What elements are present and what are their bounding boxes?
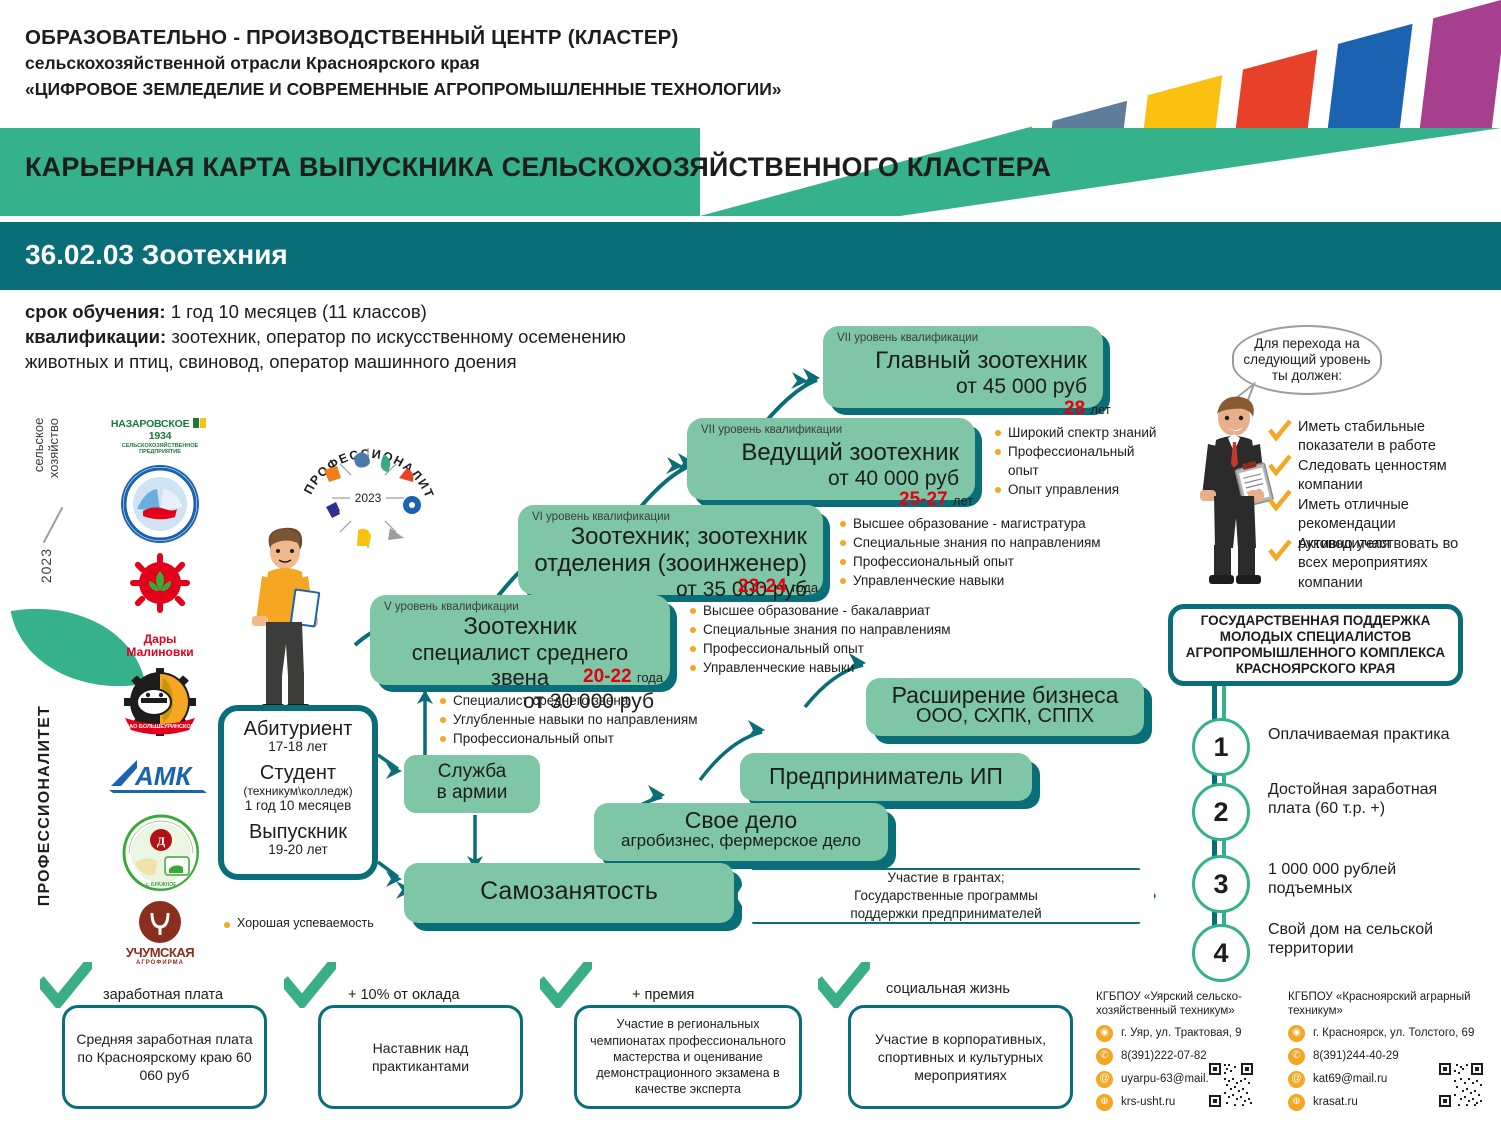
req-item: Высшее образование - бакалавриат (690, 601, 960, 620)
logo-uchumskaya-sub: АГРОФИРМА (105, 960, 215, 966)
svg-text:ПРОФЕССИОНАЛИТЕТ: ПРОФЕССИОНАЛИТЕТ (288, 402, 437, 501)
globe-icon: ⊕ (1288, 1094, 1305, 1111)
logo-solgonskoe-art (123, 467, 197, 541)
req-item: Хорошая успеваемость (224, 915, 424, 933)
req-item: Профессиональный опыт (840, 552, 1110, 571)
career-age-srednego: 20-22 года (583, 666, 663, 688)
logo-bolsheurinskoe: ЗАО БОЛЬШЕУРИНСКОЕ (105, 668, 215, 746)
gos-number-1: 1 (1192, 718, 1250, 776)
career-level-glavny: VII уровень квалификации (837, 332, 978, 344)
partner-logos: НАЗАРОВСКОЕ 1934 СЕЛЬСКОХОЗЯЙСТВЕННОЕ ПР… (100, 418, 220, 976)
career-reqs-vedushy: Высшее образование - магистратура Специа… (840, 514, 1110, 591)
contact-site-2: krasat.ru (1313, 1095, 1358, 1109)
logo-amk: АМК (105, 756, 215, 799)
bottom-label-1: заработная плата (103, 987, 223, 1003)
contact-site-1: krs-usht.ru (1121, 1095, 1175, 1109)
army-service-box[interactable]: Служба в армии (404, 755, 540, 813)
check-icon (1268, 490, 1292, 512)
location-pin-icon: ◉ (1288, 1025, 1305, 1042)
applicant-note: Хорошая успеваемость (224, 915, 424, 933)
check-icon (1268, 540, 1292, 562)
gos-number-3: 3 (1192, 855, 1250, 913)
career-age-vedushy: 25-27 лет (899, 489, 973, 511)
phone-icon: ✆ (1096, 1048, 1113, 1065)
logo-dary-title: Дары (105, 633, 215, 646)
check-icon (540, 962, 592, 1008)
term-label: срок обучения: (25, 301, 166, 322)
header-line-2: сельскохозяйственной отрасли Красноярско… (25, 53, 782, 74)
bottom-label-2: + 10% от оклада (348, 987, 460, 1003)
applicant-sub-2: (техникум\колледж) (224, 784, 372, 798)
career-title-vedushy: Ведущий зоотехник (687, 440, 975, 467)
gos-text-4: Свой дом на сельской территории (1268, 920, 1463, 958)
logo-dymov-art: Д с. БРАЖНОЕ (121, 813, 199, 891)
req-item: Профессиональный опыт (690, 639, 960, 658)
career-reqs-srednego: Специалист среднего звена Углубленные на… (440, 691, 710, 748)
globe-icon: ⊕ (1096, 1094, 1113, 1111)
applicant-stage-3: Выпускник (224, 822, 372, 842)
logo-dary-title2: Малиновки (105, 646, 215, 659)
bottom-card-3[interactable]: Участие в региональных чемпионатах профе… (574, 1005, 802, 1109)
contact-phone-1: 8(391)222-07-82 (1121, 1049, 1207, 1063)
applicant-stage-2: Студент (224, 763, 372, 783)
professionalitet-year: 2023 (355, 491, 382, 505)
email-icon: @ (1096, 1071, 1113, 1088)
rail-year: 2023 (38, 548, 54, 583)
business-title-entrepreneur: Предприниматель ИП (740, 753, 1032, 790)
applicant-age-3: 19-20 лет (224, 842, 372, 857)
bottom-label-4: социальная жизнь (886, 981, 1010, 997)
career-salary-glavny: от 45 000 руб (823, 375, 1103, 399)
business-box-expansion[interactable]: Расширение бизнеса ООО, СХПК, СППХ (866, 678, 1144, 736)
bottom-card-1[interactable]: Средняя заработная плата по Красноярском… (62, 1005, 267, 1109)
check-icon (1268, 455, 1292, 477)
bottom-card-2[interactable]: Наставник над практикантами (318, 1005, 523, 1109)
req-item: Профессиональный опыт (440, 729, 710, 748)
career-box-vedushy[interactable]: VII уровень квалификации Ведущий зоотехн… (687, 418, 975, 500)
qr-code-1 (1208, 1062, 1254, 1108)
rail-divider (43, 507, 64, 543)
business-sub-own: агробизнес, фермерское дело (594, 831, 888, 851)
career-level-srednego: V уровень квалификации (384, 601, 519, 613)
logo-nazarovskoe: НАЗАРОВСКОЕ 1934 СЕЛЬСКОХОЗЯЙСТВЕННОЕ ПР… (105, 418, 215, 455)
career-salary-vedushy: от 40 000 руб (687, 467, 975, 491)
req-item: Углубленные навыки по направлениям (440, 710, 710, 729)
logo-uchumskaya: УЧУМСКАЯ АГРОФИРМА (105, 901, 215, 966)
rail-professionalitet-label: ПРОФЕССИОНАЛИТЕТ (36, 705, 54, 906)
specialty-title: 36.02.03 Зоотехния (25, 239, 288, 271)
svg-text:АМК: АМК (134, 761, 193, 791)
logo-nazarovskoe-title: НАЗАРОВСКОЕ (111, 418, 190, 430)
req-item: Управленческие навыки (840, 571, 1110, 590)
gos-text-1: Оплачиваемая практика (1268, 725, 1463, 744)
promotion-requirement-1: Иметь стабильные показатели в работе (1298, 418, 1478, 457)
logo-bolsheurinskoe-label: ЗАО БОЛЬШЕУРИНСКОЕ (126, 724, 195, 730)
phone-icon: ✆ (1288, 1048, 1305, 1065)
logo-uchumskaya-title: УЧУМСКАЯ (126, 945, 194, 960)
logo-nazarovskoe-year: 1934 (149, 430, 172, 442)
header-line-3: «ЦИФРОВОЕ ЗЕМЛЕДЕЛИЕ И СОВРЕМЕННЫЕ АГРОП… (25, 79, 782, 100)
contact-address-row-1: ◉ г. Уяр, ул. Трактовая, 9 (1096, 1025, 1276, 1042)
career-reqs-otdeleniya: Высшее образование - бакалавриат Специал… (690, 601, 960, 678)
logo-nazarovskoe-sub: СЕЛЬСКОХОЗЯЙСТВЕННОЕ ПРЕДПРИЯТИЕ (105, 443, 215, 455)
logo-dymov: Д с. БРАЖНОЕ (105, 813, 215, 891)
business-box-selfemployed[interactable]: Самозанятость (404, 863, 734, 923)
req-item: Широкий спектр знаний (995, 423, 1175, 442)
check-icon (40, 962, 92, 1008)
req-item: Специальные знания по направлениям (840, 533, 1110, 552)
career-age-glavny: 28 лет (1064, 398, 1111, 420)
promotion-requirement-4: Активно участвовать во всех мероприятиях… (1298, 535, 1478, 593)
contact-address-row-2: ◉ г. Красноярск, ул. Толстого, 69 (1288, 1025, 1483, 1042)
email-icon: @ (1288, 1071, 1305, 1088)
check-icon (818, 962, 870, 1008)
logo-solgonskoe (105, 465, 215, 543)
contact-address-2: г. Красноярск, ул. Толстого, 69 (1313, 1026, 1474, 1040)
business-box-entrepreneur[interactable]: Предприниматель ИП (740, 753, 1032, 801)
bottom-card-4[interactable]: Участие в корпоративных, спортивных и ку… (848, 1005, 1073, 1109)
qr-code-2 (1438, 1062, 1484, 1108)
svg-text:с. БРАЖНОЕ: с. БРАЖНОЕ (145, 882, 177, 888)
gos-text-3: 1 000 000 рублей подъемных (1268, 860, 1463, 898)
grants-hexbox[interactable]: Участие в грантах; Государственные прогр… (736, 868, 1156, 924)
term-value: 1 год 10 месяцев (11 классов) (166, 301, 427, 322)
career-level-otdeleniya: VI уровень квалификации (532, 511, 670, 523)
logo-uchumskaya-art (139, 901, 181, 943)
applicant-box[interactable]: Абитуриент 17-18 лет Студент (техникум\к… (218, 705, 378, 880)
logo-dary-malinovki: Дары Малиновки (105, 553, 215, 658)
header-text-block: ОБРАЗОВАТЕЛЬНО - ПРОИЗВОДСТВЕННЫЙ ЦЕНТР … (25, 26, 782, 100)
req-item: Управленческие навыки (690, 658, 960, 677)
business-title-selfemployed: Самозанятость (404, 863, 734, 906)
contact-address-1: г. Уяр, ул. Трактовая, 9 (1121, 1026, 1242, 1040)
req-item: Специалист среднего звена (440, 691, 710, 710)
logo-bolsheurinskoe-art: ЗАО БОЛЬШЕУРИНСКОЕ (121, 668, 199, 740)
gos-number-2: 2 (1192, 783, 1250, 841)
bottom-label-3: + премия (632, 987, 694, 1003)
check-icon (1268, 420, 1292, 442)
gos-support-title: ГОСУДАРСТВЕННАЯ ПОДДЕРЖКА МОЛОДЫХ СПЕЦИА… (1168, 604, 1463, 686)
req-item: Высшее образование - магистратура (840, 514, 1110, 533)
req-item: Опыт управления (995, 480, 1175, 499)
business-title-own: Свое дело (594, 803, 888, 834)
qual-label: квалификации: (25, 326, 166, 347)
logo-dary-malinovki-art (121, 553, 199, 617)
business-box-own[interactable]: Свое дело агробизнес, фермерское дело (594, 803, 888, 861)
career-box-glavny[interactable]: VII уровень квалификации Главный зоотехн… (823, 326, 1103, 408)
applicant-stage-1: Абитуриент (224, 719, 372, 739)
req-item: Специальные знания по направлениям (690, 620, 960, 639)
career-map-title: КАРЬЕРНАЯ КАРТА ВЫПУСКНИКА СЕЛЬСКОХОЗЯЙС… (25, 152, 1051, 183)
location-pin-icon: ◉ (1096, 1025, 1113, 1042)
header-line-1: ОБРАЗОВАТЕЛЬНО - ПРОИЗВОДСТВЕННЫЙ ЦЕНТР … (25, 26, 782, 50)
contact-email-1: uyarpu-63@mail.ru (1121, 1072, 1219, 1086)
career-reqs-glavny: Широкий спектр знаний Профессиональный о… (995, 423, 1175, 500)
rail-sector-label: сельскоехозяйство (32, 418, 62, 478)
contact-name-1: КГБПОУ «Уярский сельско-хозяйственный те… (1096, 990, 1276, 1019)
contact-email-2: kat69@mail.ru (1313, 1072, 1387, 1086)
gos-text-2: Достойная заработная плата (60 т.р. +) (1268, 780, 1463, 818)
career-level-vedushy: VII уровень квалификации (701, 424, 842, 436)
student-figure-icon (228, 520, 338, 720)
contact-phone-2: 8(391)244-40-29 (1313, 1049, 1399, 1063)
career-title-glavny: Главный зоотехник (823, 348, 1103, 375)
career-title-otdeleniya: Зоотехник; зоотехник отделения (зооинжен… (518, 524, 823, 578)
applicant-age-1: 17-18 лет (224, 739, 372, 754)
check-icon (284, 962, 336, 1008)
promotion-requirement-2: Следовать ценностям компании (1298, 457, 1478, 496)
contact-name-2: КГБПОУ «Красноярский аграрный техникум» (1288, 990, 1483, 1019)
applicant-duration-2: 1 год 10 месяцев (224, 798, 372, 813)
gos-number-4: 4 (1192, 924, 1250, 982)
career-age-otdeleniya: 23-24 года (738, 576, 818, 598)
logo-amk-art: АМК (107, 756, 213, 794)
program-intro: срок обучения: 1 год 10 месяцев (11 клас… (25, 300, 685, 374)
svg-text:Д: Д (157, 834, 166, 848)
infographic-root: ОБРАЗОВАТЕЛЬНО - ПРОИЗВОДСТВЕННЫЙ ЦЕНТР … (0, 0, 1501, 1126)
req-item: Профессиональный опыт (995, 442, 1175, 480)
